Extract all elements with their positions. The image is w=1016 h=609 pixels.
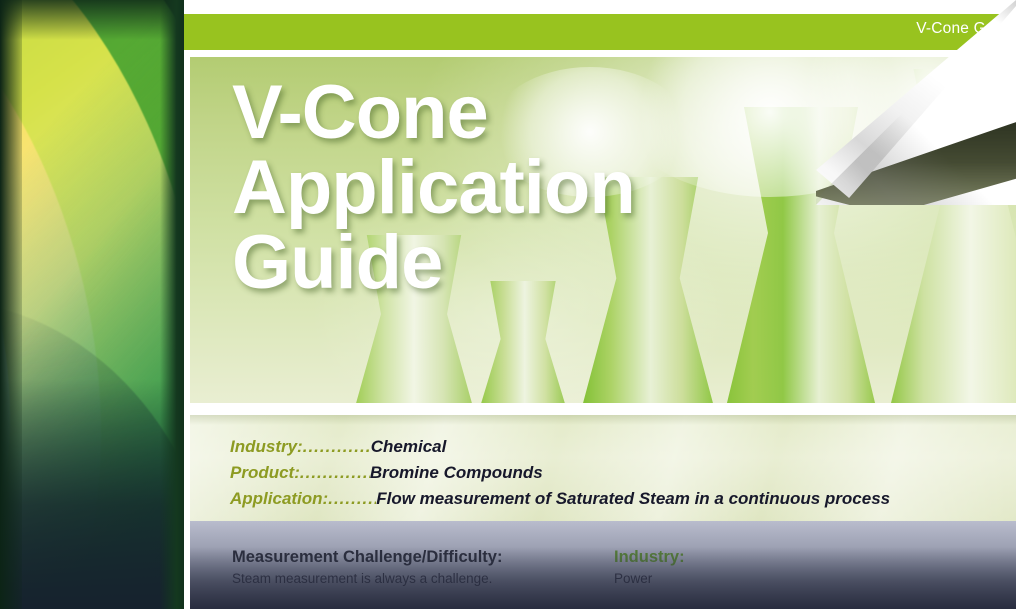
title-line-3: Guide [232,225,852,300]
industry-heading: Industry: [614,547,954,568]
info-row-industry: Industry: ................ Chemical [230,437,890,463]
industry-column: Industry: Power [614,547,954,588]
details-panel: Measurement Challenge/Difficulty: Steam … [190,521,1016,609]
title-line-2: Application [232,150,852,225]
guide-label: V-Cone Guide [916,20,1016,38]
info-value-product: Bromine Compounds [370,463,543,483]
info-label-application: Application: [230,489,328,509]
info-row-product: Product: ................. Bromine Compo… [230,463,890,489]
header-bar: V-Cone Guide [184,14,1016,50]
brochure-sheet: V-Cone Guide V-Cone Application Guide [184,0,1016,609]
background-top-shade [0,0,186,40]
info-panel: Industry: ................ Chemical Prod… [190,415,1016,521]
info-panel-top-shadow [190,415,1016,425]
challenge-text: Steam measurement is always a challenge. [232,570,612,588]
hero-divider [184,403,1016,415]
info-label-product: Product: [230,463,300,483]
info-value-industry: Chemical [371,437,447,457]
challenge-heading: Measurement Challenge/Difficulty: [232,547,612,568]
info-dots-product: ................. [300,463,370,483]
document-page: V-Cone Guide V-Cone Application Guide [0,0,1016,609]
info-label-industry: Industry: [230,437,303,457]
info-dots-industry: ................ [303,437,371,457]
challenge-column: Measurement Challenge/Difficulty: Steam … [232,547,612,588]
hero-image: V-Cone Application Guide [190,57,1016,403]
info-value-application: Flow measurement of Saturated Steam in a… [376,489,890,509]
info-dots-application: ........... [328,489,376,509]
info-rows: Industry: ................ Chemical Prod… [230,437,890,515]
background-left-edge [0,0,22,609]
industry-value: Power [614,570,954,588]
info-row-application: Application: ........... Flow measuremen… [230,489,890,515]
title-line-1: V-Cone [232,75,852,150]
page-title: V-Cone Application Guide [232,75,852,301]
